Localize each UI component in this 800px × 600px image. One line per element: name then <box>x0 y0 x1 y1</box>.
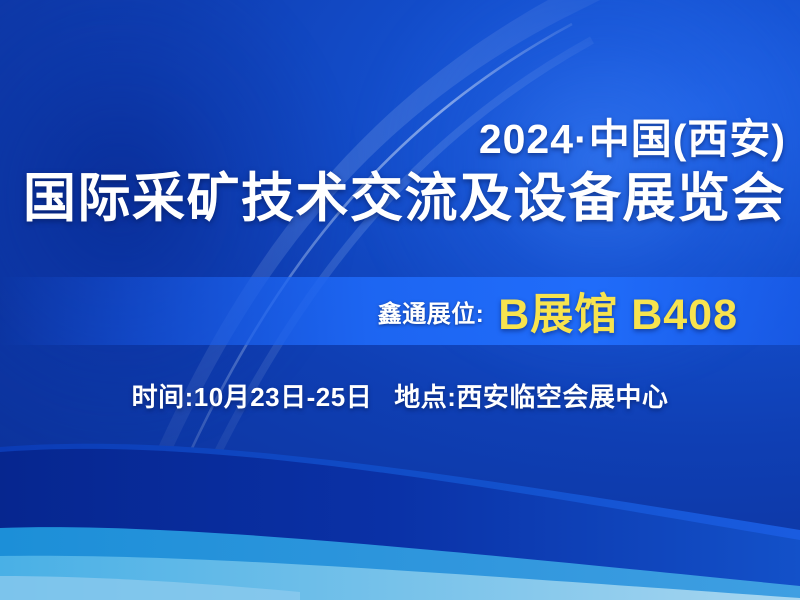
booth-number: B展馆 B408 <box>498 280 738 342</box>
event-info-row: 时间:10月23日-25日 地点:西安临空会展中心 <box>0 377 800 414</box>
exhibition-poster: 2024·中国(西安) 国际采矿技术交流及设备展览会 鑫通展位: B展馆 B40… <box>0 0 800 600</box>
event-date: 时间:10月23日-25日 <box>132 377 373 414</box>
booth-label: 鑫通展位: <box>378 294 485 329</box>
poster-content: 2024·中国(西安) 国际采矿技术交流及设备展览会 鑫通展位: B展馆 B40… <box>0 0 800 600</box>
poster-title-line-2: 国际采矿技术交流及设备展览会 <box>0 168 786 231</box>
event-venue: 地点:西安临空会展中心 <box>394 377 668 414</box>
poster-title-block: 2024·中国(西安) 国际采矿技术交流及设备展览会 <box>0 116 786 230</box>
booth-info-row: 鑫通展位: B展馆 B408 <box>0 281 738 341</box>
poster-title-line-1: 2024·中国(西安) <box>0 116 786 164</box>
